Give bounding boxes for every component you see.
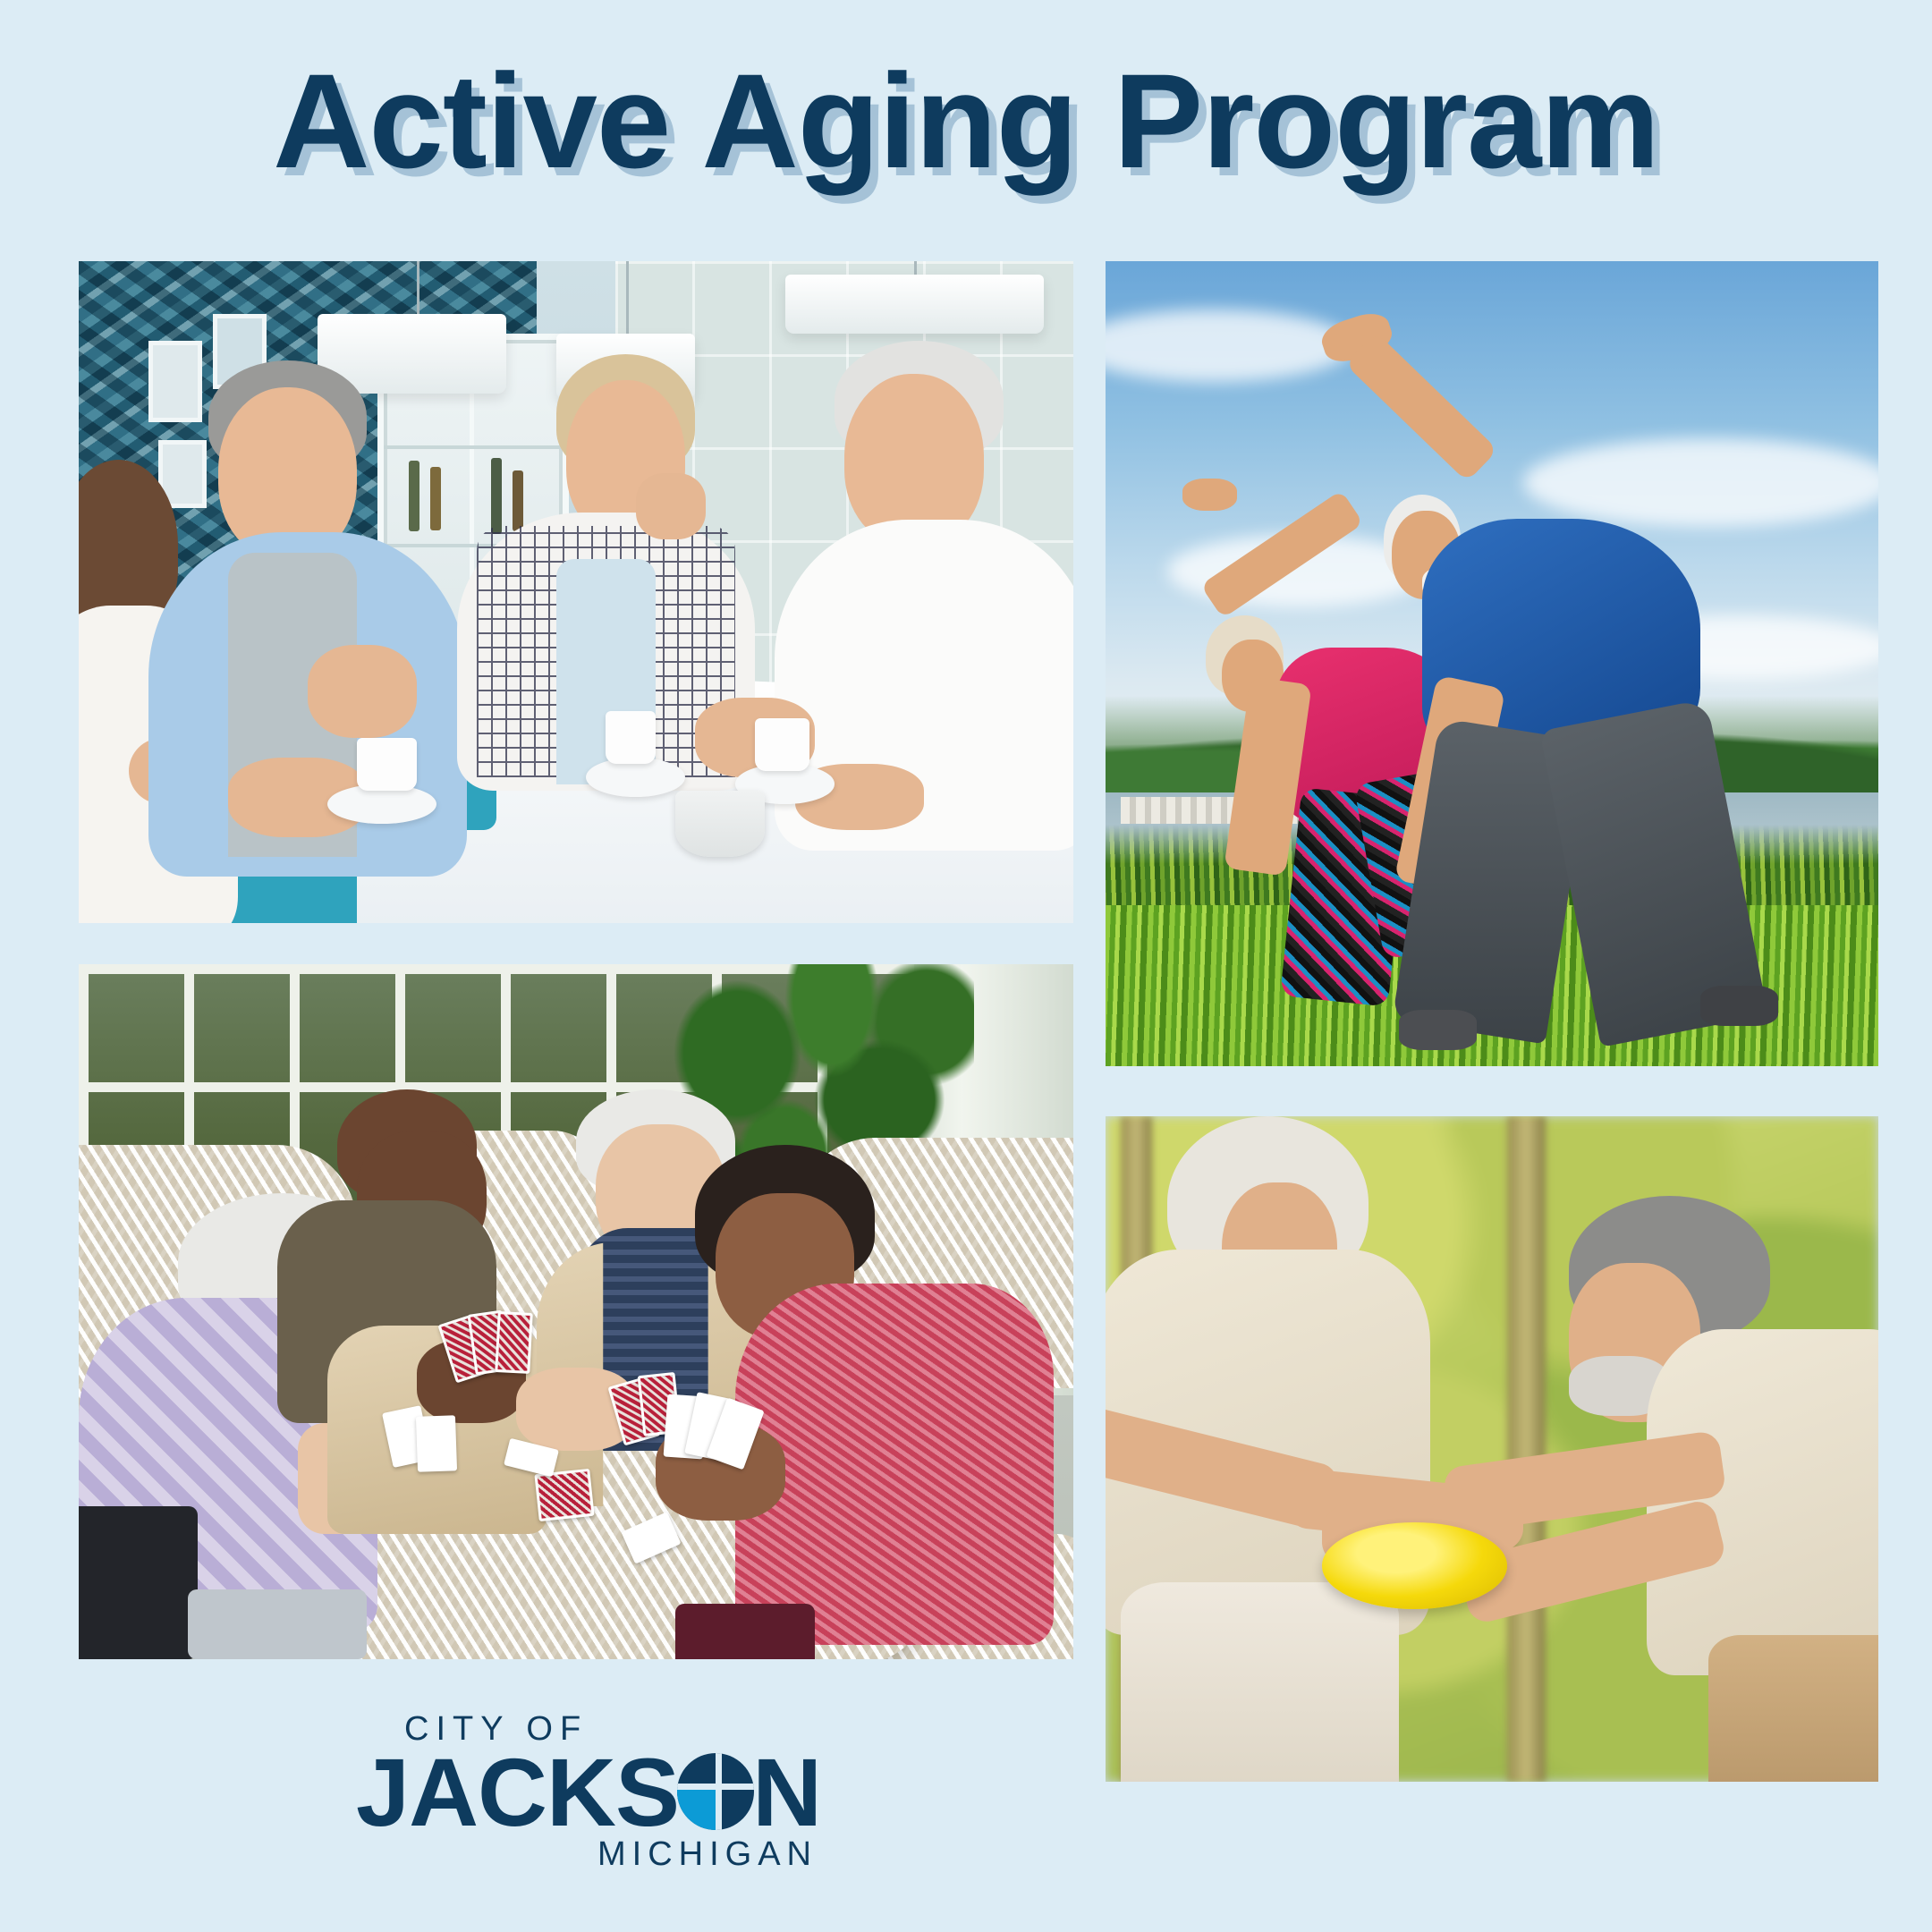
photo-seniors-coffee [79,261,1073,923]
poster-canvas: Active Aging Program [0,0,1932,1932]
photo-frisbee-play-scene [1106,1116,1878,1782]
photo-outdoor-stretching [1106,261,1878,1066]
photo-outdoor-stretching-scene [1106,261,1878,1066]
logo-wordmark: JACKS N [356,1751,821,1834]
logo-state: MICHIGAN [597,1835,818,1874]
photo-card-game [79,964,1073,1659]
photo-seniors-coffee-scene [79,261,1073,923]
logo-wordmark-before: JACKS [356,1751,679,1834]
logo-wordmark-after: N [752,1751,821,1834]
page-title: Active Aging Program [0,54,1932,188]
jackson-circle-quadrant-mark-icon [677,1753,754,1830]
city-of-jackson-logo: CITY OF JACKS N MICHIGAN [356,1710,821,1867]
photo-frisbee-play [1106,1116,1878,1782]
photo-card-game-scene [79,964,1073,1659]
